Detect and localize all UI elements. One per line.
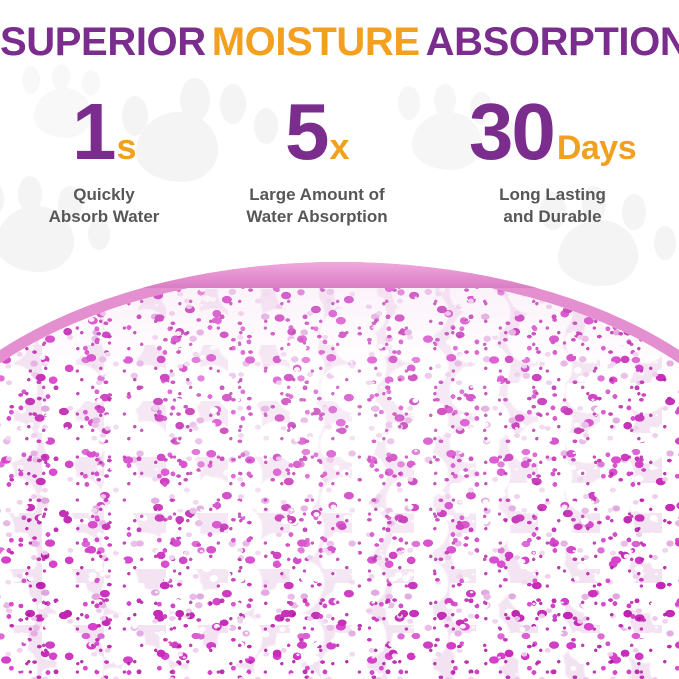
stat-caption: Large Amount of Water Absorption xyxy=(246,184,387,229)
stats-row: 1 s Quickly Absorb Water 5 x Large Amoun… xyxy=(0,92,679,229)
stat-unit: s xyxy=(116,129,136,165)
headline-part-superior: SUPERIOR xyxy=(0,20,206,64)
stat-block-duration: 30 Days Long Lasting and Durable xyxy=(428,92,678,229)
stat-caption: Quickly Absorb Water xyxy=(49,184,160,229)
product-image-litter-bowl xyxy=(0,262,679,679)
product-feature-banner: SUPERIORMOISTUREABSORPTION 1 s Quickly A… xyxy=(0,0,679,679)
stat-block-absorption-amount: 5 x Large Amount of Water Absorption xyxy=(215,92,420,229)
stat-caption-line1: Quickly xyxy=(49,184,160,206)
stat-caption-line1: Long Lasting xyxy=(499,184,606,206)
stat-unit: Days xyxy=(557,131,636,165)
stat-number: 1 xyxy=(72,92,115,172)
stat-caption-line2: Absorb Water xyxy=(49,206,160,228)
stat-caption: Long Lasting and Durable xyxy=(499,184,606,229)
stat-caption-line2: and Durable xyxy=(499,206,606,228)
stat-value: 1 s xyxy=(72,92,136,178)
litter-granule-texture-layer-3 xyxy=(0,273,679,679)
headline-part-absorption: ABSORPTION xyxy=(426,20,679,64)
stat-unit: x xyxy=(329,129,349,165)
stat-value: 5 x xyxy=(285,92,349,178)
stat-value: 30 Days xyxy=(469,92,636,178)
page-title: SUPERIORMOISTUREABSORPTION xyxy=(0,22,679,62)
stat-caption-line2: Water Absorption xyxy=(246,206,387,228)
stat-block-absorb-speed: 1 s Quickly Absorb Water xyxy=(2,92,207,229)
crystal-litter-fill xyxy=(0,273,679,679)
stat-caption-line1: Large Amount of xyxy=(246,184,387,206)
stat-number: 30 xyxy=(469,92,554,172)
headline-part-moisture: MOISTURE xyxy=(212,20,420,64)
stat-number: 5 xyxy=(285,92,328,172)
